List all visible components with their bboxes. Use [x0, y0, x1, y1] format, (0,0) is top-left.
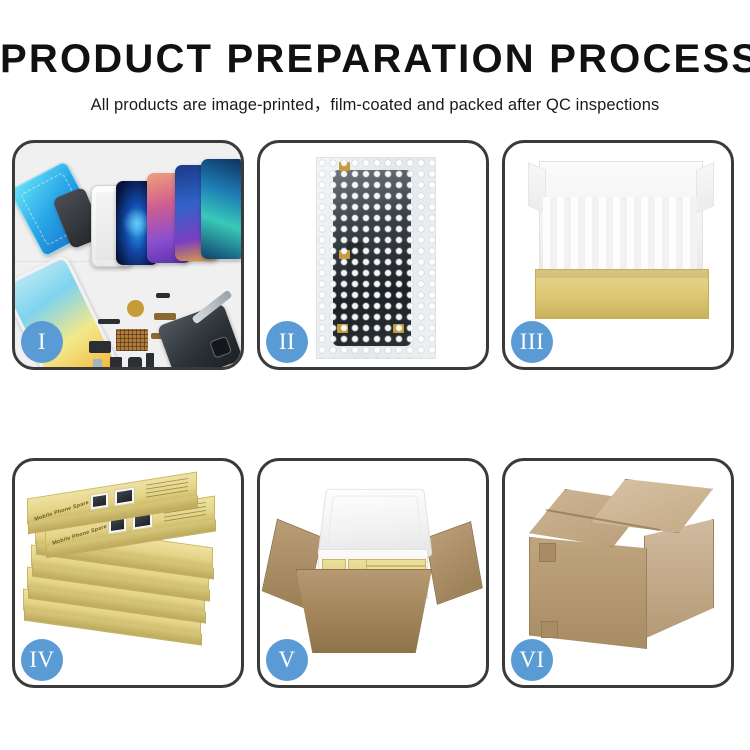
- carton-tape-lower: [541, 621, 558, 638]
- step-panel-1: I: [12, 140, 244, 370]
- screw-a: [227, 357, 234, 364]
- carton-top-seam: [546, 509, 661, 531]
- carton-front-face: [529, 537, 647, 649]
- box-lid-open: [539, 161, 703, 281]
- screw-b: [237, 363, 241, 367]
- retail-boxes-vertical: [322, 559, 422, 595]
- tape-lower-left: [337, 324, 348, 333]
- flex-cable-a: [154, 313, 176, 320]
- phone-purple: [147, 173, 191, 263]
- retail-box: [373, 559, 397, 595]
- carton-tape-upper: [539, 543, 556, 562]
- step-panel-3: III: [502, 140, 734, 370]
- camera-lens: [209, 336, 232, 359]
- step-badge-4: IV: [21, 639, 63, 681]
- box-window-a: [108, 515, 127, 534]
- page-subtitle: All products are image-printed，film-coat…: [0, 91, 750, 115]
- flex-cable-b: [151, 333, 179, 339]
- carton-top-flap-left: [529, 489, 649, 547]
- phone-back-housing: [157, 303, 241, 367]
- bubble-wrap-contents: [547, 271, 695, 299]
- retail-box-top-1: Mobile Phone Spare Parts: [27, 472, 197, 525]
- logic-board: [116, 329, 148, 351]
- bubble-bag: [316, 157, 436, 359]
- process-step-grid: I II III: [12, 140, 738, 688]
- retail-box-bottom-4: [27, 566, 205, 613]
- screen-protector: [91, 185, 133, 267]
- carton-flap-right: [425, 521, 483, 605]
- retail-box-label: Mobile Phone Spare Parts: [34, 495, 105, 523]
- foam-sheet: [543, 197, 697, 271]
- retail-box-top-2: Mobile Phone Spare Parts: [45, 496, 215, 549]
- step-badge-3: III: [511, 321, 553, 363]
- adhesive-sheet: [15, 160, 101, 257]
- shipping-carton-open: [296, 569, 432, 653]
- step-panel-4: Mobile Phone Spare Parts Mobile Phone Sp…: [12, 458, 244, 688]
- phone-blue-violet: [175, 165, 219, 261]
- page-header: PRODUCT PREPARATION PROCESS All products…: [0, 0, 750, 115]
- tape-mid: [339, 250, 350, 259]
- speaker-module: [127, 300, 144, 317]
- step-badge-2: II: [266, 321, 308, 363]
- retail-box-bottom-3: [31, 544, 209, 591]
- carton-top-flap-right: [591, 479, 713, 533]
- earpiece-mesh: [98, 319, 120, 324]
- retail-box: [348, 559, 372, 595]
- phone-teal: [201, 159, 241, 259]
- retail-box-bottom-5: [23, 588, 201, 635]
- retail-box-bottom-2: [35, 522, 213, 569]
- step-badge-1: I: [21, 321, 63, 363]
- connector-a: [146, 353, 154, 367]
- camera-module: [110, 357, 122, 367]
- foam-box-lid: [317, 489, 432, 557]
- bracket-a: [89, 341, 111, 353]
- volume-button: [156, 293, 170, 298]
- tape-lower-right: [393, 324, 404, 333]
- box-spec-text: [146, 478, 188, 500]
- step-badge-6: VI: [511, 639, 553, 681]
- box-side: [36, 543, 214, 580]
- step-panel-5: V: [257, 458, 489, 688]
- box-spec-text: [164, 502, 206, 524]
- foam-box: [318, 549, 428, 599]
- retail-box: [399, 559, 423, 595]
- box-side: [46, 519, 216, 558]
- box-side: [28, 587, 206, 624]
- vibration-motor: [128, 357, 142, 367]
- step-badge-5: V: [266, 639, 308, 681]
- box-side: [28, 495, 198, 534]
- retail-box-stack: Mobile Phone Spare Parts Mobile Phone Sp…: [23, 483, 235, 667]
- box-side: [32, 565, 210, 602]
- screen-flex-cable: [347, 242, 363, 342]
- box-window-b: [114, 486, 135, 506]
- surface-line: [15, 261, 241, 262]
- step-panel-2: II: [257, 140, 489, 370]
- carton-side-face: [644, 519, 714, 639]
- step-panel-6: VI: [502, 458, 734, 688]
- retail-box-label: Mobile Phone Spare Parts: [52, 519, 123, 547]
- phone-blue-swirl: [116, 181, 158, 265]
- tape-top: [339, 162, 350, 171]
- packed-screen: [333, 170, 411, 346]
- box-window-b: [132, 510, 153, 530]
- phone-dark: [52, 187, 104, 250]
- sim-tray: [93, 359, 102, 367]
- kraft-box-base: [535, 269, 709, 319]
- page-title: PRODUCT PREPARATION PROCESS: [0, 38, 750, 80]
- retail-boxes-horizontal: [366, 559, 426, 597]
- retail-box: [322, 559, 346, 595]
- carton-flap-left: [262, 519, 323, 610]
- screwdriver: [191, 290, 232, 325]
- box-window-a: [90, 491, 109, 510]
- bubble-texture: [317, 158, 435, 358]
